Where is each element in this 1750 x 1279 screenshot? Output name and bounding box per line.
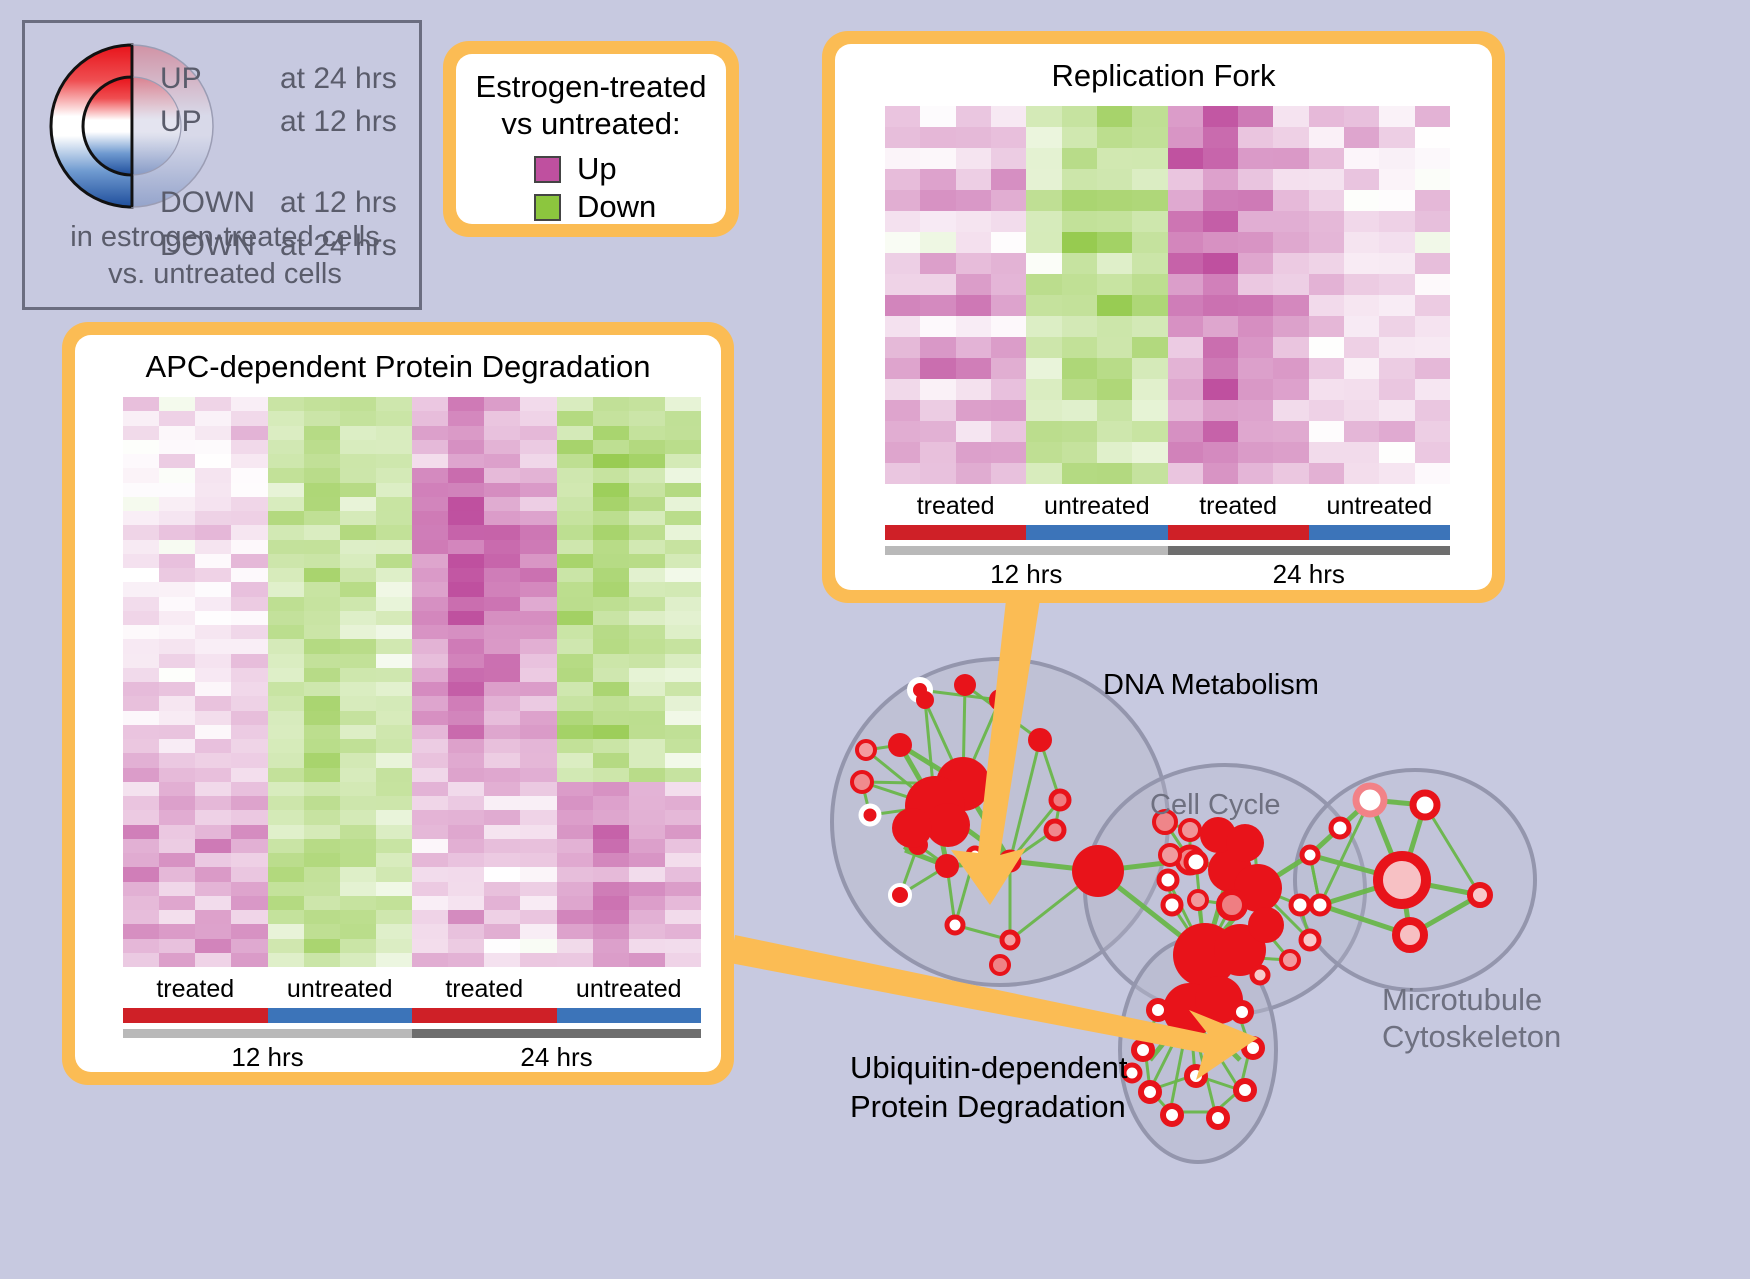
network-node (1226, 824, 1264, 862)
cluster-label-dna-metabolism: DNA Metabolism (1103, 669, 1319, 701)
network-node (1028, 728, 1052, 752)
network-node (1189, 891, 1207, 909)
network-node (1470, 885, 1490, 905)
network-node (1302, 847, 1318, 863)
network-node (1209, 1109, 1227, 1127)
network-node (888, 733, 912, 757)
network-node (1180, 820, 1200, 840)
network-node (1159, 871, 1177, 889)
network-node (1163, 1106, 1181, 1124)
cluster-label-cell-cycle: Cell Cycle (1150, 789, 1281, 821)
network-node (1160, 845, 1180, 865)
network-node (852, 772, 872, 792)
network-node (1163, 896, 1181, 914)
network-node (1236, 1081, 1254, 1099)
network-node (1072, 845, 1124, 897)
network-node (1356, 786, 1384, 814)
network-node (1248, 907, 1284, 943)
network-node (1149, 1001, 1167, 1019)
network-node (1219, 892, 1245, 918)
network-node (857, 741, 875, 759)
network-node (1046, 821, 1064, 839)
network-node (1396, 921, 1424, 949)
network-node (861, 806, 879, 824)
network-node (1134, 1041, 1152, 1059)
network-node (954, 674, 976, 696)
network-node (991, 956, 1009, 974)
network-node (1301, 931, 1319, 949)
network-node (1378, 856, 1426, 904)
network-node (935, 854, 959, 878)
network-node (890, 885, 910, 905)
network-node (1291, 896, 1309, 914)
network-node (892, 808, 932, 848)
network-node (1002, 932, 1018, 948)
network-node (916, 691, 934, 709)
network-node (1311, 896, 1329, 914)
cluster-label-microtubule: Microtubule Cytoskeleton (1382, 982, 1561, 1054)
cluster-label-microtubule-line2: Cytoskeleton (1382, 1019, 1561, 1054)
cluster-label-microtubule-line1: Microtubule (1382, 982, 1542, 1017)
network-node (947, 917, 963, 933)
network-node (1413, 793, 1437, 817)
network-node (926, 803, 970, 847)
cluster-label-ubiquitin-line2: Protein Degradation (850, 1089, 1126, 1124)
network-node (1186, 852, 1206, 872)
network-node (1051, 791, 1069, 809)
network-node (1331, 819, 1349, 837)
cluster-label-ubiquitin: Ubiquitin-dependent Protein Degradation (850, 1050, 1136, 1124)
network-diagram: DNA Metabolism Cell Cycle Microtubule Cy… (0, 0, 1750, 1279)
network-node (1233, 1003, 1251, 1021)
network-node (1252, 967, 1268, 983)
network-node (1141, 1083, 1159, 1101)
network-node (1281, 951, 1299, 969)
cluster-label-ubiquitin-line1: Ubiquitin-dependent (850, 1050, 1128, 1085)
